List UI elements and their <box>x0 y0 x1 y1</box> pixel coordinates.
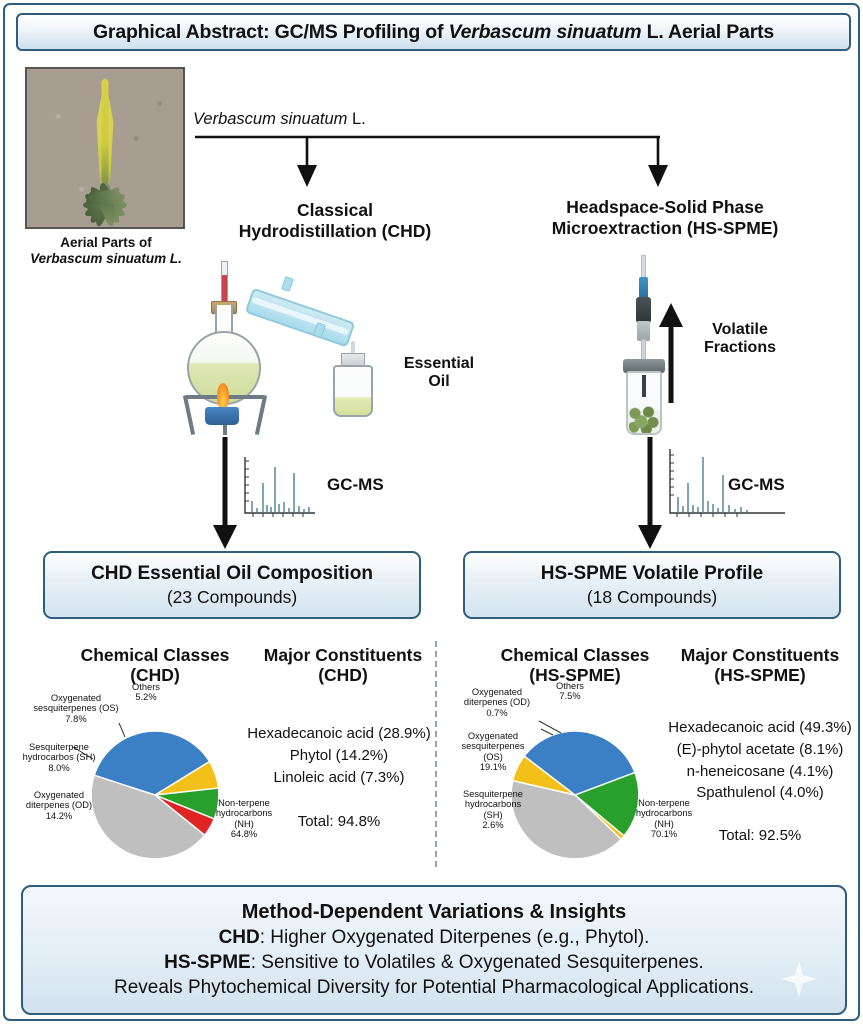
spme-blue-hub <box>639 277 648 299</box>
hydrodistillation-apparatus <box>165 253 405 433</box>
conclusion-chd-rest: : Higher Oxygenated Diterpenes (e.g., Ph… <box>260 927 650 948</box>
const-title-chd-l1: Major Constituents <box>243 645 443 665</box>
list-item: Hexadecanoic acid (28.9%) <box>233 723 445 745</box>
method-chd-line1: Classical <box>205 200 465 221</box>
bunsen-burner-icon <box>205 407 239 425</box>
essential-oil-line2: Oil <box>391 373 487 391</box>
pie-label-chd-sh: Sesquiterpene hydrocarbos (SH) 8.0% <box>5 742 113 773</box>
conclusion-line-spme: HS-SPME: Sensitive to Volatiles & Oxygen… <box>164 952 704 974</box>
pie-label-spme-others: Others 7.5% <box>539 681 601 702</box>
volatile-line2: Fractions <box>685 339 795 357</box>
result-box-chd: CHD Essential Oil Composition (23 Compou… <box>43 551 421 619</box>
species-label: Verbascum sinuatum L. <box>193 110 366 129</box>
title-prefix: Graphical Abstract: GC/MS Profiling of <box>93 21 449 43</box>
section-divider <box>435 641 437 867</box>
leaf-rosette <box>57 157 153 217</box>
conclusion-chd-bold: CHD <box>219 927 260 948</box>
pie-label-chd-sh-l1: Sesquiterpene <box>5 742 113 752</box>
pie-label-chd-nh-value: 64.8% <box>201 829 287 839</box>
gcms-label-left: GC-MS <box>327 475 384 495</box>
result-box-spme: HS-SPME Volatile Profile (18 Compounds) <box>463 551 841 619</box>
total-chd: Total: 94.8% <box>233 813 445 830</box>
list-item: Spathulenol (4.0%) <box>653 782 863 804</box>
pie-label-chd-os-l2: sesquiterpenes (OS) <box>17 703 135 713</box>
pie-label-spme-od-l2: diterpenes (OD) <box>445 697 549 707</box>
method-spme-line2: Microextraction (HS-SPME) <box>515 218 815 239</box>
photo-caption-line1: Aerial Parts of <box>13 235 199 251</box>
conclusion-heading: Method-Dependent Variations & Insights <box>242 901 626 924</box>
thermometer-icon <box>221 261 228 305</box>
pie-label-spme-od-value: 0.7% <box>445 708 549 718</box>
pie-label-spme-others-value: 7.5% <box>539 691 601 701</box>
conclusion-line-summary: Reveals Phytochemical Diversity for Pote… <box>114 977 754 999</box>
result-spme-subtitle: (18 Compounds) <box>587 587 717 608</box>
pie-label-spme-sh-l1: Sesquiterpene <box>437 789 549 799</box>
result-chd-subtitle: (23 Compounds) <box>167 587 297 608</box>
const-title-chd-l2: (CHD) <box>243 665 443 685</box>
conclusion-box: Method-Dependent Variations & Insights C… <box>21 885 847 1015</box>
pie-label-chd-od-value: 14.2% <box>5 811 113 821</box>
plant-photo <box>25 67 185 229</box>
conclusion-spme-rest: : Sensitive to Volatiles & Oxygenated Se… <box>251 952 704 973</box>
plant-material-icon <box>629 405 659 433</box>
page-title-text: Graphical Abstract: GC/MS Profiling of V… <box>93 21 774 44</box>
list-item: (E)-phytol acetate (8.1%) <box>653 739 863 761</box>
pie-label-spme-sh-l3: (SH) <box>437 810 549 820</box>
pie-label-spme-others-l1: Others <box>539 681 601 691</box>
sparkle-icon <box>779 959 819 999</box>
method-heading-chd: Classical Hydrodistillation (CHD) <box>205 200 465 241</box>
volatile-fractions-label: Volatile Fractions <box>685 321 795 358</box>
pie-label-spme-os-value: 19.1% <box>437 762 549 772</box>
const-title-spme-l1: Major Constituents <box>660 645 860 665</box>
title-species: Verbascum sinuatum <box>448 21 641 43</box>
chart-title-spme-l1: Chemical Classes <box>465 645 685 665</box>
pie-label-chd-sh-value: 8.0% <box>5 763 113 773</box>
pie-label-chd-others: Others 5.2% <box>115 682 177 703</box>
list-item: n-heneicosane (4.1%) <box>653 761 863 783</box>
essential-oil-line1: Essential <box>391 355 487 373</box>
pie-label-spme-os-l1: Oxygenated <box>437 731 549 741</box>
list-item: Hexadecanoic acid (49.3%) <box>653 717 863 739</box>
spme-holder-body <box>636 297 651 323</box>
pie-label-spme-os-l2: sesquiterpenes <box>437 741 549 751</box>
list-item: Linoleic acid (7.3%) <box>233 767 445 789</box>
pie-label-chd-others-l1: Others <box>115 682 177 692</box>
pie-label-chd-od-l2: diterpenes (OD) <box>5 800 113 810</box>
constituent-list-spme: Hexadecanoic acid (49.3%) (E)-phytol ace… <box>653 717 863 804</box>
abstract-frame: Graphical Abstract: GC/MS Profiling of V… <box>3 3 860 1021</box>
pie-label-chd-od: Oxygenated diterpenes (OD) 14.2% <box>5 790 113 821</box>
const-title-chd: Major Constituents (CHD) <box>243 645 443 685</box>
pie-label-chd-od-l1: Oxygenated <box>5 790 113 800</box>
pie-label-spme-sh-l2: hydrocarbons <box>437 799 549 809</box>
title-suffix: L. Aerial Parts <box>641 21 774 43</box>
condenser-port-top <box>281 276 294 292</box>
gcms-chromatogram-left <box>245 457 315 517</box>
conclusion-spme-bold: HS-SPME <box>164 952 251 973</box>
gcms-label-right: GC-MS <box>728 475 785 495</box>
pie-label-spme-od: Oxygenated diterpenes (OD) 0.7% <box>445 687 549 718</box>
result-chd-title: CHD Essential Oil Composition <box>91 563 373 585</box>
constituent-list-chd: Hexadecanoic acid (28.9%) Phytol (14.2%)… <box>233 723 445 788</box>
total-spme: Total: 92.5% <box>653 827 863 844</box>
method-heading-spme: Headspace-Solid Phase Microextraction (H… <box>515 197 815 238</box>
page-title: Graphical Abstract: GC/MS Profiling of V… <box>16 13 851 51</box>
pie-label-spme-os: Oxygenated sesquiterpenes (OS) 19.1% <box>437 731 549 773</box>
pie-label-chd-sh-l2: hydrocarbos (SH) <box>5 752 113 762</box>
flame-icon <box>217 383 229 409</box>
pie-label-spme-sh-value: 2.6% <box>437 820 549 830</box>
pie-label-spme-nh-l2: hydrocarbons <box>621 808 707 818</box>
list-item: Phytol (14.2%) <box>233 745 445 767</box>
species-authority: L. <box>347 110 365 128</box>
spme-gray-collar <box>637 321 650 341</box>
const-title-spme: Major Constituents (HS-SPME) <box>660 645 860 685</box>
pie-label-chd-os-value: 7.8% <box>17 714 135 724</box>
pie-label-spme-sh: Sesquiterpene hydrocarbons (SH) 2.6% <box>437 789 549 831</box>
method-chd-line2: Hydrodistillation (CHD) <box>205 221 465 242</box>
pie-label-chd-nh-l1: Non-terpene <box>201 798 287 808</box>
conclusion-line-chd: CHD: Higher Oxygenated Diterpenes (e.g.,… <box>219 927 650 949</box>
chart-title-spme: Chemical Classes (HS-SPME) <box>465 645 685 685</box>
chart-title-chd-l1: Chemical Classes <box>45 645 265 665</box>
result-spme-title: HS-SPME Volatile Profile <box>541 563 763 585</box>
pie-label-spme-os-l3: (OS) <box>437 752 549 762</box>
species-latin: Verbascum sinuatum <box>193 110 347 128</box>
chart-title-chd: Chemical Classes (CHD) <box>45 645 265 685</box>
spme-fiber <box>642 375 646 397</box>
pie-label-spme-od-l1: Oxygenated <box>445 687 549 697</box>
pie-label-chd-others-value: 5.2% <box>115 692 177 702</box>
method-spme-line1: Headspace-Solid Phase <box>515 197 815 218</box>
volatile-line1: Volatile <box>685 321 795 339</box>
const-title-spme-l2: (HS-SPME) <box>660 665 860 685</box>
oil-collector-bottle-icon <box>333 365 373 417</box>
essential-oil-label: Essential Oil <box>391 355 487 392</box>
